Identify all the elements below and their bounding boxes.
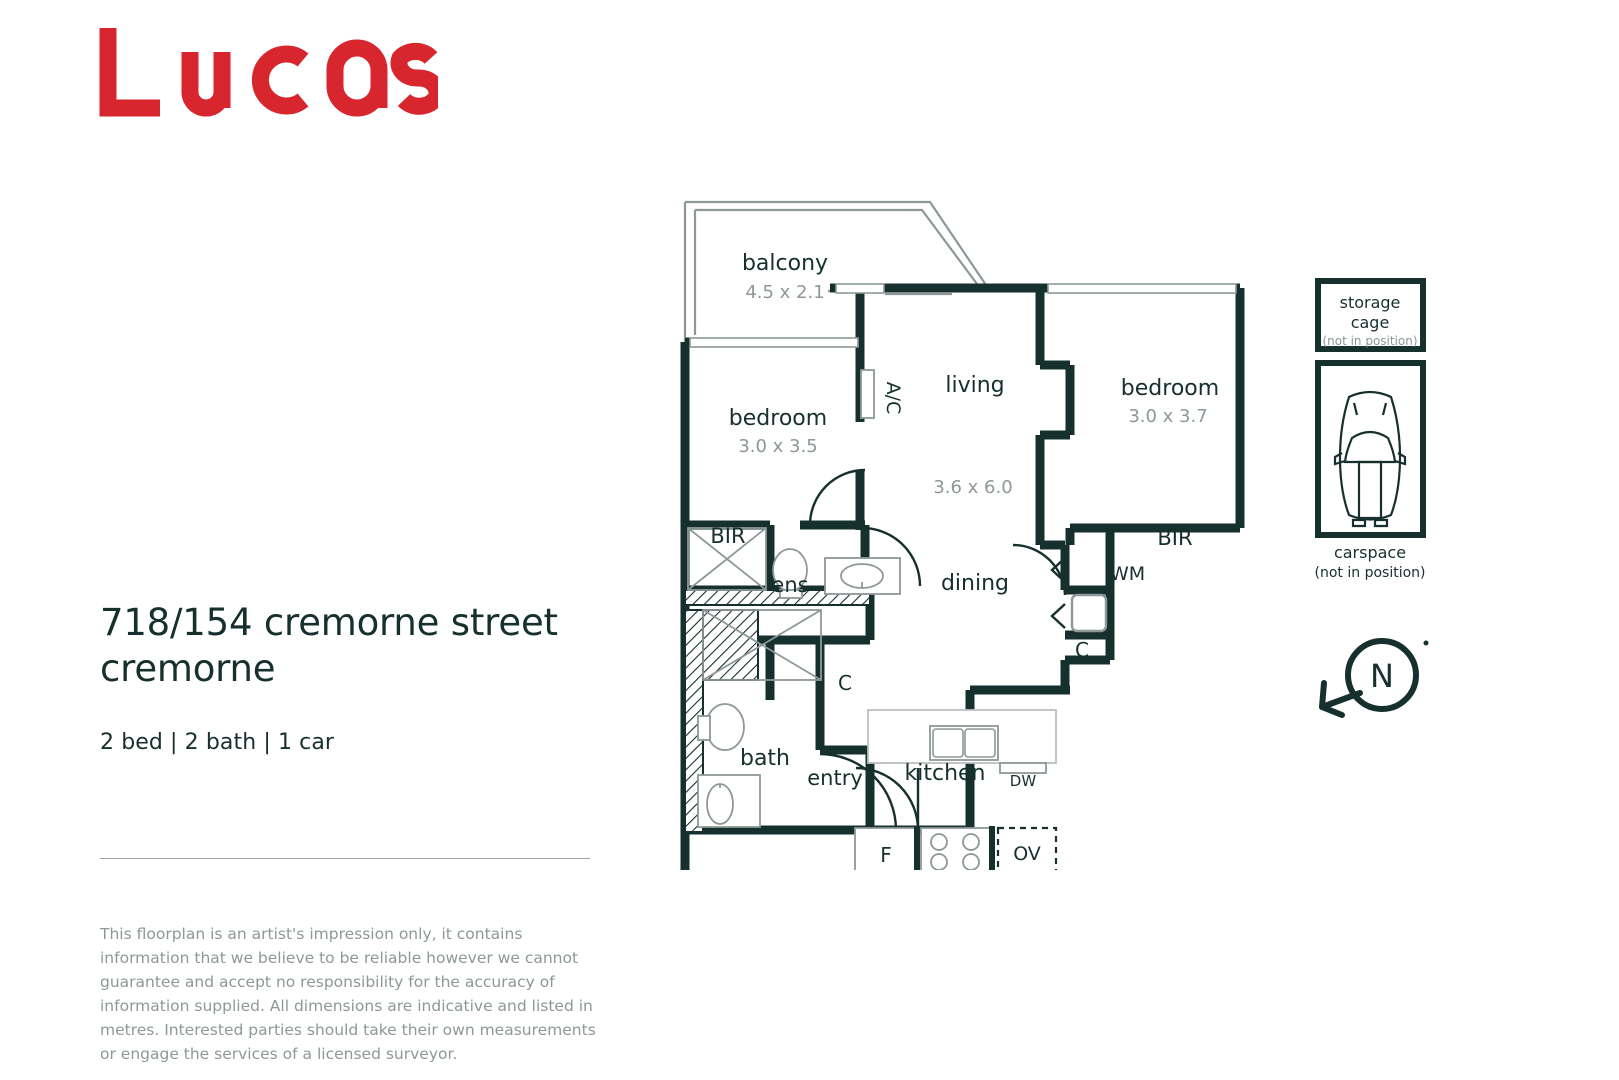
balcony-outline: [685, 202, 988, 342]
label-dw: DW: [1010, 772, 1037, 790]
label-bath: bath: [740, 746, 790, 771]
label-oven: OV: [1013, 843, 1041, 865]
label-balcony: balcony: [742, 251, 828, 276]
listing-specs: 2 bed | 2 bath | 1 car: [100, 730, 334, 755]
label-bir-left: BIR: [710, 524, 745, 548]
storage-title-line2: cage: [1351, 313, 1390, 332]
floorplan-page: 718/154 cremorne street cremorne 2 bed |…: [0, 0, 1619, 1080]
divider-rule: [100, 858, 590, 859]
label-dining: dining: [941, 571, 1009, 596]
label-bir-right: BIR: [1157, 526, 1192, 550]
storage-note: (not in position): [1322, 334, 1417, 348]
label-ens: ens: [771, 573, 808, 597]
label-fridge: F: [880, 843, 892, 867]
label-bedroom-left-dims: 3.0 x 3.5: [738, 436, 817, 457]
storage-title-line1: storage: [1340, 293, 1401, 312]
ac-unit: [861, 370, 874, 418]
disclaimer-text: This floorplan is an artist's impression…: [100, 922, 600, 1066]
compass-north-letter: N: [1370, 657, 1394, 695]
carspace-title: carspace: [1334, 543, 1406, 562]
plan-legend-column: storage cage (not in position) carspace: [1290, 275, 1490, 725]
label-bedroom-left: bedroom: [729, 406, 827, 431]
label-living: living: [945, 373, 1004, 398]
label-wm: WM: [1110, 563, 1145, 585]
address-line-2: cremorne: [100, 646, 620, 692]
address-line-1: 718/154 cremorne street: [100, 600, 620, 646]
lucas-logo: [98, 22, 438, 117]
label-ac: A/C: [882, 382, 904, 415]
label-c-laundry: C: [1075, 638, 1089, 662]
carspace-box: carspace (not in position): [1315, 363, 1426, 581]
laundry-fixtures: [1052, 558, 1106, 631]
label-kitchen: kitchen: [905, 761, 986, 786]
listing-address: 718/154 cremorne street cremorne: [100, 600, 620, 692]
label-bedroom-right: bedroom: [1121, 376, 1219, 401]
storage-cage-box: storage cage (not in position): [1318, 281, 1423, 349]
compass-dot: [1424, 641, 1429, 646]
label-c-hall: C: [838, 671, 852, 695]
label-bedroom-right-dims: 3.0 x 3.7: [1128, 406, 1207, 427]
label-balcony-dims: 4.5 x 2.1: [745, 282, 824, 303]
label-entry: entry: [807, 766, 863, 790]
carspace-note: (not in position): [1315, 565, 1426, 581]
north-compass: N: [1322, 641, 1429, 716]
floorplan-drawing: A/C: [640, 170, 1260, 870]
label-living-dims: 3.6 x 6.0: [933, 477, 1012, 498]
